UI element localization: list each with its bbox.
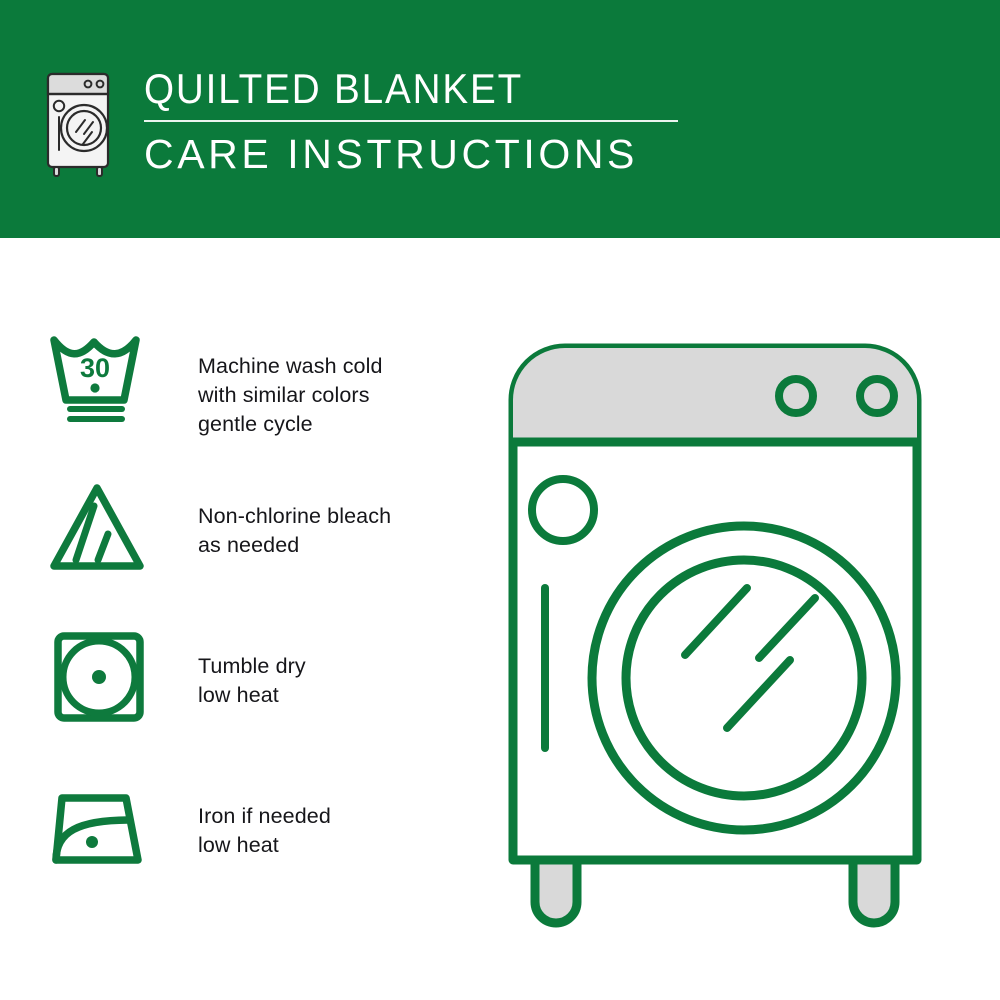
- wash-tub-30-icon: 30: [48, 330, 152, 426]
- bleach-symbol-slot: [44, 480, 156, 576]
- dry-symbol-slot: [44, 630, 156, 726]
- non-chlorine-bleach-triangle-icon: [48, 480, 152, 576]
- header-band: QUILTED BLANKET CARE INSTRUCTIONS: [0, 0, 1000, 238]
- header-content: QUILTED BLANKET CARE INSTRUCTIONS: [44, 66, 678, 180]
- page-title-secondary: CARE INSTRUCTIONS: [144, 132, 678, 176]
- page-title-primary: QUILTED BLANKET: [144, 66, 635, 112]
- care-text-iron: Iron if needed low heat: [198, 802, 331, 860]
- care-row-iron: Iron if needed low heat: [0, 780, 480, 930]
- care-text-wash: Machine wash cold with similar colors ge…: [198, 352, 383, 439]
- leg-left: [535, 860, 577, 923]
- front-load-washing-machine-illustration: [495, 330, 975, 940]
- care-text-bleach: Non-chlorine bleach as needed: [198, 502, 391, 560]
- care-row-dry: Tumble dry low heat: [0, 630, 480, 780]
- tumble-dry-low-icon: [48, 630, 152, 726]
- title-block: QUILTED BLANKET CARE INSTRUCTIONS: [144, 66, 678, 176]
- washing-machine-logo-icon: [44, 70, 116, 180]
- iron-low-heat-icon: [48, 780, 152, 876]
- leg-right: [853, 860, 895, 923]
- care-text-dry: Tumble dry low heat: [198, 652, 306, 710]
- care-row-bleach: Non-chlorine bleach as needed: [0, 480, 480, 630]
- wash-symbol-slot: 30: [44, 330, 156, 426]
- iron-symbol-slot: [44, 780, 156, 876]
- wash-temperature-label: 30: [80, 353, 110, 383]
- care-row-wash: 30 Machine wash cold with similar colors…: [0, 330, 480, 480]
- care-instruction-list: 30 Machine wash cold with similar colors…: [0, 330, 480, 930]
- title-divider: [144, 120, 678, 122]
